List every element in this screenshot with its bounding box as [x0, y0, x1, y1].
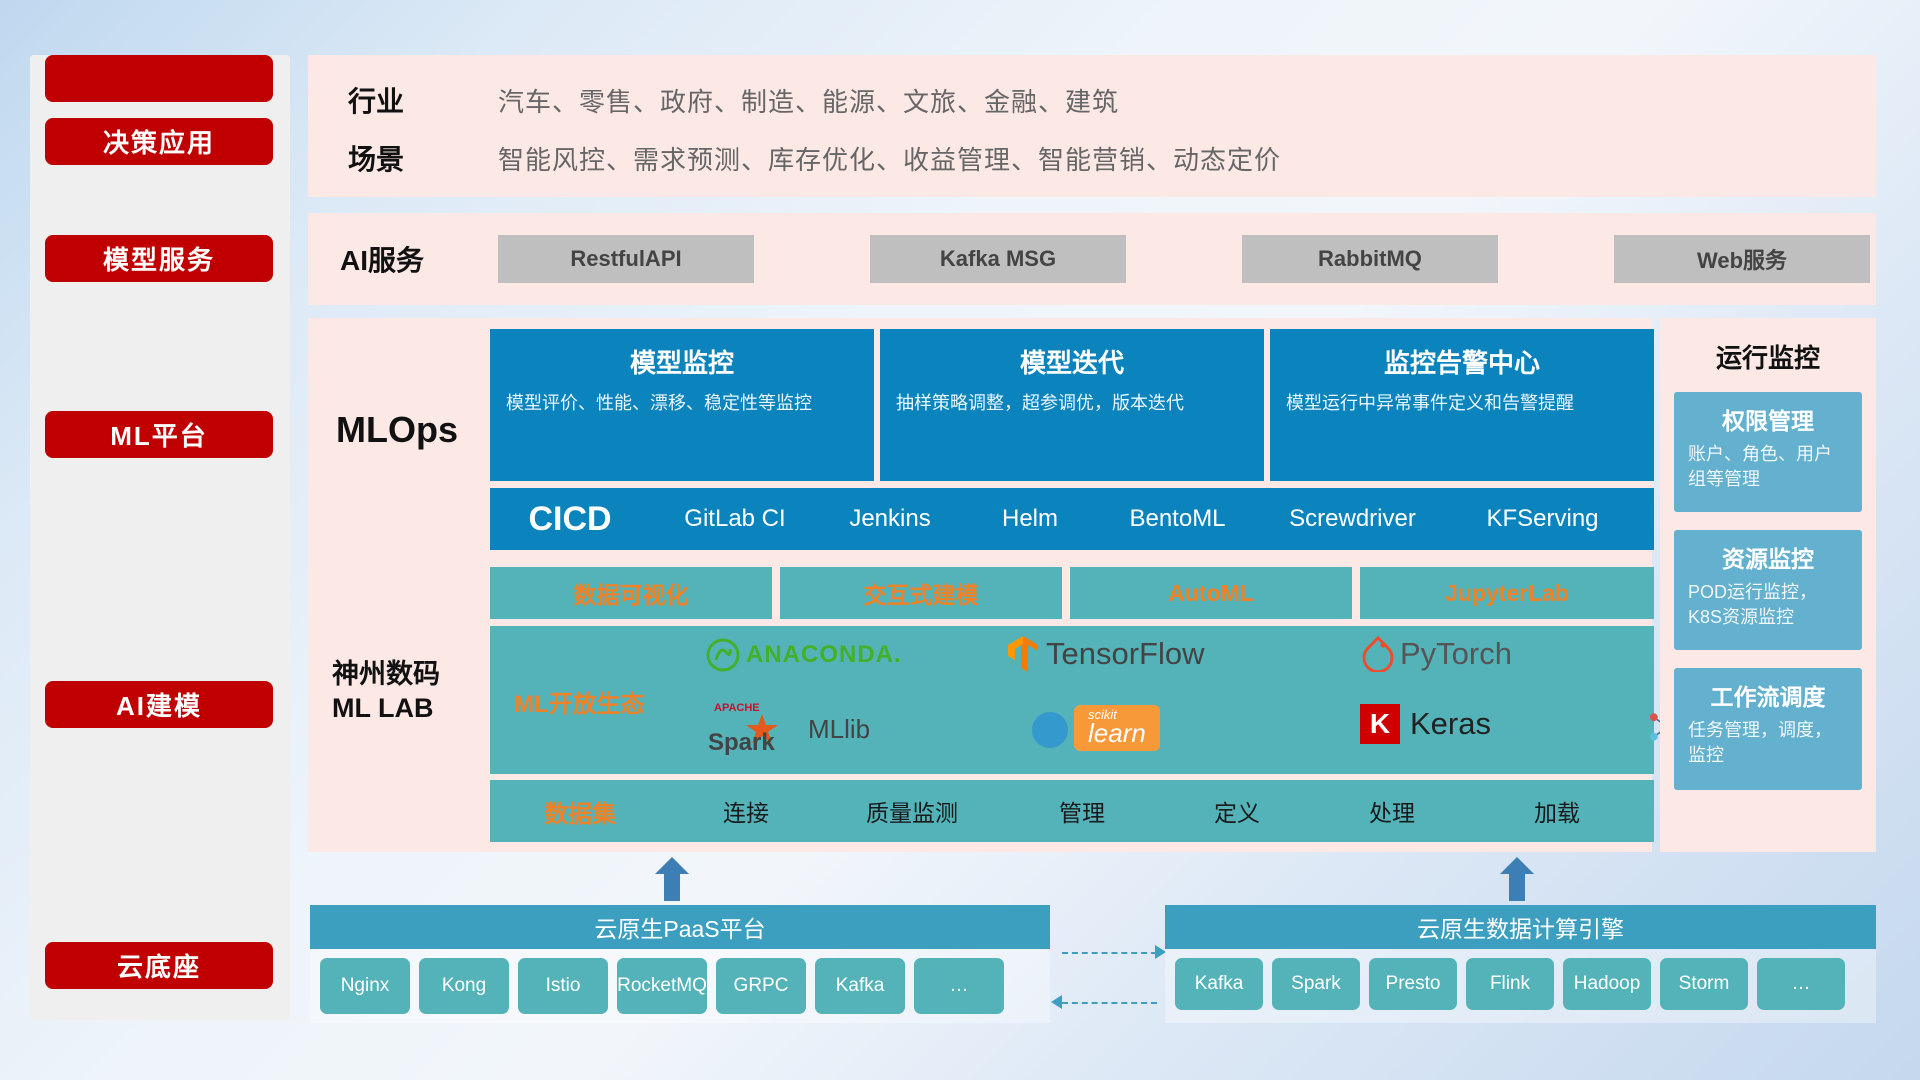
card-desc: 模型运行中异常事件定义和告警提醒 [1286, 390, 1638, 416]
industry-value-1: 智能风控、需求预测、库存优化、收益管理、智能营销、动态定价 [498, 135, 1281, 181]
layer-button-ai-modeling[interactable]: AI建模 [45, 681, 273, 728]
dataset-item-connect[interactable]: 连接 [670, 794, 822, 828]
dataset-item-manage[interactable]: 管理 [1002, 794, 1162, 828]
paas-chip-more[interactable]: … [914, 958, 1004, 1014]
service-chip-web[interactable]: Web服务 [1614, 235, 1870, 283]
card-title: 工作流调度 [1688, 678, 1848, 712]
card-desc: 模型评价、性能、漂移、稳定性等监控 [506, 390, 858, 416]
lab-tab-automl[interactable]: AutoML [1070, 567, 1352, 619]
card-title: 监控告警中心 [1286, 343, 1638, 380]
paas-chip-kong[interactable]: Kong [419, 958, 509, 1014]
arrow-up-paas [655, 857, 689, 903]
arrow-up-engine [1500, 857, 1534, 903]
svg-text:Spark: Spark [708, 729, 775, 756]
ml-lab-label-line2: ML LAB [332, 692, 492, 726]
engine-chip-flink[interactable]: Flink [1466, 958, 1554, 1010]
spark-icon: Spark [706, 712, 792, 758]
card-desc: 抽样策略调整，超参调优，版本迭代 [896, 390, 1248, 416]
mlops-card-model-monitoring[interactable]: 模型监控 模型评价、性能、漂移、稳定性等监控 [490, 329, 874, 481]
card-desc: 任务管理，调度，监控 [1688, 718, 1848, 768]
dataset-bar: 数据集 连接 质量监测 管理 定义 处理 加载 [490, 780, 1654, 842]
cicd-item-jenkins[interactable]: Jenkins [820, 506, 960, 531]
dataset-item-process[interactable]: 处理 [1312, 794, 1472, 828]
lab-tab-interactive-modeling[interactable]: 交互式建模 [780, 567, 1062, 619]
paas-chip-rocketmq[interactable]: RocketMQ [617, 958, 707, 1014]
engine-chip-kafka[interactable]: Kafka [1175, 958, 1263, 1010]
spacer [45, 55, 273, 102]
layer-rail: 决策应用 模型服务 ML平台 AI建模 云底座 [30, 55, 290, 1020]
service-chip-restfulapi[interactable]: RestfulAPI [498, 235, 754, 283]
ml-lab-label-line1: 神州数码 [332, 658, 492, 692]
pytorch-icon [1362, 636, 1394, 672]
dashed-arrow-left-icon [1051, 995, 1062, 1009]
spark-mllib-logo: APACHE Spark MLlib [706, 704, 870, 754]
card-desc: POD运行监控，K8S资源监控 [1688, 580, 1848, 630]
anaconda-label: ANACONDA. [746, 641, 902, 669]
architecture-diagram: 决策应用 模型服务 ML平台 AI建模 云底座 行业 汽车、零售、政府、制造、能… [0, 0, 1920, 1080]
cicd-item-helm[interactable]: Helm [960, 506, 1100, 531]
ml-ecosystem-panel: ML开放生态 ANACONDA. TensorFlow [490, 626, 1654, 774]
industry-key-0: 行业 [348, 77, 468, 123]
keras-badge: K [1360, 704, 1400, 744]
anaconda-logo: ANACONDA. [706, 638, 902, 672]
tensorflow-label: TensorFlow [1046, 636, 1205, 672]
card-title: 资源监控 [1688, 540, 1848, 574]
service-chip-kafka-msg[interactable]: Kafka MSG [870, 235, 1126, 283]
cicd-item-bentoml[interactable]: BentoML [1100, 506, 1255, 531]
cicd-item-screwdriver[interactable]: Screwdriver [1255, 506, 1450, 531]
layer-button-decision[interactable]: 决策应用 [45, 118, 273, 165]
pytorch-logo: PyTorch [1362, 636, 1512, 672]
industry-key-1: 场景 [348, 135, 468, 181]
monitor-card-permissions[interactable]: 权限管理 账户、角色、用户组等管理 [1674, 392, 1862, 512]
engine-group: 云原生数据计算引擎 Kafka Spark Presto Flink Hadoo… [1165, 905, 1876, 1023]
dataset-item-load[interactable]: 加载 [1472, 794, 1642, 828]
cicd-title: CICD [490, 500, 650, 539]
card-title: 权限管理 [1688, 402, 1848, 436]
ml-ecosystem-label: ML开放生态 [514, 684, 645, 719]
lab-tab-jupyterlab[interactable]: JupyterLab [1360, 567, 1654, 619]
cicd-item-kfserving[interactable]: KFServing [1450, 506, 1635, 531]
scikit-learn-logo: scikit learn [1030, 704, 1160, 752]
engine-chip-storm[interactable]: Storm [1660, 958, 1748, 1010]
service-chip-rabbitmq[interactable]: RabbitMQ [1242, 235, 1498, 283]
engine-chip-hadoop[interactable]: Hadoop [1563, 958, 1651, 1010]
anaconda-icon [706, 638, 740, 672]
monitor-card-resources[interactable]: 资源监控 POD运行监控，K8S资源监控 [1674, 530, 1862, 650]
cicd-item-gitlab-ci[interactable]: GitLab CI [650, 506, 820, 531]
mlops-label: MLOps [336, 400, 516, 460]
layer-button-model-service[interactable]: 模型服务 [45, 235, 273, 282]
tensorflow-logo: TensorFlow [1006, 634, 1205, 674]
engine-chip-more[interactable]: … [1757, 958, 1845, 1010]
dataset-item-quality[interactable]: 质量监测 [822, 794, 1002, 828]
layer-button-cloud-base[interactable]: 云底座 [45, 942, 273, 989]
runtime-monitor-panel: 运行监控 权限管理 账户、角色、用户组等管理 资源监控 POD运行监控，K8S资… [1660, 318, 1876, 852]
keras-logo: K Keras [1360, 704, 1491, 744]
cicd-bar: CICD GitLab CI Jenkins Helm BentoML Scre… [490, 488, 1654, 550]
monitor-card-workflow[interactable]: 工作流调度 任务管理，调度，监控 [1674, 668, 1862, 790]
paas-chip-grpc[interactable]: GRPC [716, 958, 806, 1014]
card-title: 模型迭代 [896, 343, 1248, 380]
mlops-band: MLOps 模型监控 模型评价、性能、漂移、稳定性等监控 模型迭代 抽样策略调整… [308, 318, 1652, 558]
keras-label: Keras [1410, 706, 1491, 742]
paas-chip-nginx[interactable]: Nginx [320, 958, 410, 1014]
mlops-card-alert-center[interactable]: 监控告警中心 模型运行中异常事件定义和告警提醒 [1270, 329, 1654, 481]
ai-service-band: AI服务 RestfulAPI Kafka MSG RabbitMQ Web服务 [308, 213, 1876, 305]
paas-chip-istio[interactable]: Istio [518, 958, 608, 1014]
engine-title: 云原生数据计算引擎 [1165, 905, 1876, 949]
card-title: 模型监控 [506, 343, 858, 380]
ml-lab-label: 神州数码 ML LAB [332, 658, 492, 726]
ai-service-label: AI服务 [340, 235, 490, 283]
card-desc: 账户、角色、用户组等管理 [1688, 442, 1848, 492]
paas-title: 云原生PaaS平台 [310, 905, 1050, 949]
monitor-title: 运行监控 [1660, 338, 1876, 375]
paas-chip-kafka[interactable]: Kafka [815, 958, 905, 1014]
dashed-link-right [1062, 952, 1157, 954]
dataset-head: 数据集 [490, 794, 670, 829]
layer-button-ml-platform[interactable]: ML平台 [45, 411, 273, 458]
engine-chip-presto[interactable]: Presto [1369, 958, 1457, 1010]
industry-band: 行业 汽车、零售、政府、制造、能源、文旅、金融、建筑 场景 智能风控、需求预测、… [308, 55, 1876, 197]
pytorch-label: PyTorch [1400, 636, 1512, 672]
lab-tab-data-visualization[interactable]: 数据可视化 [490, 567, 772, 619]
ml-lab-band: 神州数码 ML LAB 数据可视化 交互式建模 AutoML JupyterLa… [308, 558, 1652, 852]
industry-value-0: 汽车、零售、政府、制造、能源、文旅、金融、建筑 [498, 77, 1119, 123]
mlops-card-model-iteration[interactable]: 模型迭代 抽样策略调整，超参调优，版本迭代 [880, 329, 1264, 481]
dataset-item-define[interactable]: 定义 [1162, 794, 1312, 828]
tensorflow-icon [1006, 634, 1040, 674]
scikit-label: learn [1088, 718, 1146, 749]
dashed-link-left [1062, 1002, 1157, 1004]
paas-group: 云原生PaaS平台 Nginx Kong Istio RocketMQ GRPC… [310, 905, 1050, 1023]
engine-chip-spark[interactable]: Spark [1272, 958, 1360, 1010]
spark-mllib-sub: MLlib [808, 714, 870, 745]
